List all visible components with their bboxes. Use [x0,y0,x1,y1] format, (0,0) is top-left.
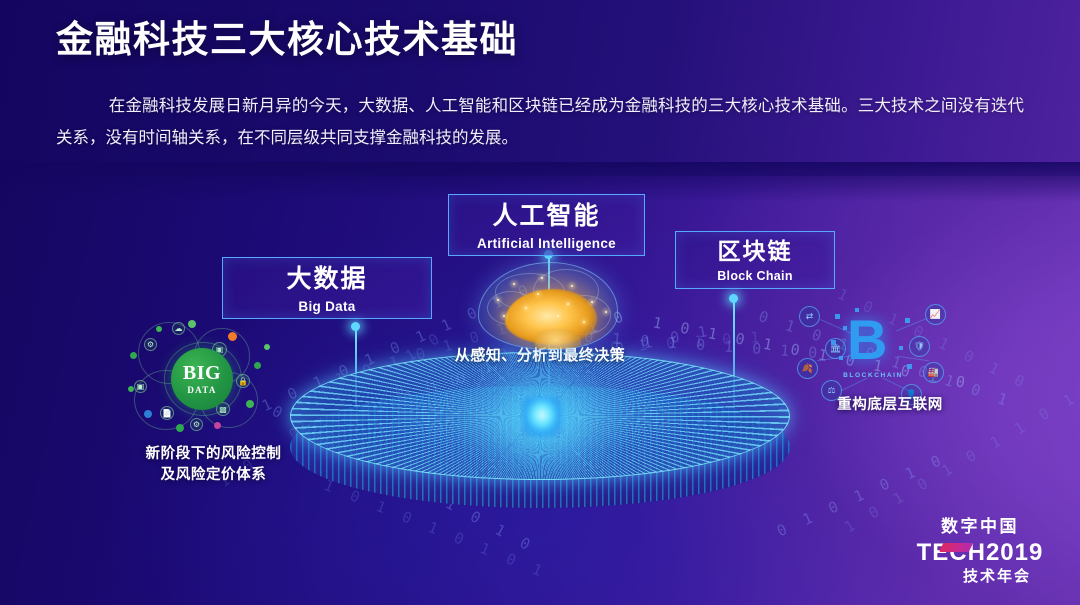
logo-wordmark: TECH2019 [917,539,1044,566]
blockchain-label: BLOCKCHAIN [833,372,913,379]
card-big-data-cn: 大数据 [223,266,431,294]
bc-pixel [831,340,836,345]
card-ai-cn: 人工智能 [449,203,644,231]
bitcoin-b-symbol: B [847,312,899,380]
brain-outer-shell [478,262,618,350]
bc-pixel [899,346,903,350]
slide-canvas: 1 0 1 0 1 0 1 1 0 1 0 0 1 0 1 0 1 0 1 0 … [0,0,1080,605]
brain-spark [513,283,515,285]
bigdata-node [214,422,221,429]
leaf-icon: 🍂 [797,358,818,379]
brain-spark [605,311,607,313]
card-big-data[interactable]: 大数据 Big Data [222,257,432,319]
brain-spark [591,301,593,303]
bc-pixel [835,314,840,319]
caption-big-data: 新阶段下的风险控制 及风险定价体系 [106,444,321,486]
brain-spark [503,315,505,317]
logo-line-3: 技术年会 [939,565,1055,586]
exchange-icon: ⇄ [799,306,820,327]
caption-big-data-line2: 及风险定价体系 [106,465,321,486]
card-blockchain-cn: 区块链 [676,239,834,264]
card-ai-en: Artificial Intelligence [449,236,644,251]
event-logo: 数字中国 TECH2019 技术年会 [905,512,1055,586]
brain-spark [557,315,559,317]
brain-spark [537,293,539,295]
brain-stem [535,329,581,350]
bc-pixel [839,356,843,360]
shield-icon: 🛡 [909,336,930,357]
connector-dot-big-data [351,322,360,331]
bigdata-node [188,320,196,328]
bigdata-node [130,352,137,359]
flask-icon: ⚙ [144,338,157,351]
big-data-icon-cluster: ⚙ ☁ ▣ 🔒 ▩ 📄 ▣ ⚙ BIG DATA [128,318,278,436]
brain-icon [470,252,625,357]
growth-chart-icon: 📈 [925,304,946,325]
document-icon: 📄 [160,406,174,420]
brain-spark [583,321,585,323]
bigdata-node [156,326,162,332]
bigdata-node [228,332,237,341]
big-data-badge-line1: BIG [183,364,221,383]
caption-blockchain-line1: 重构底层互联网 [790,395,990,416]
blockchain-icon-cluster: ⇄ 🏛 🍂 ⚖ 📈 🛡 🏭 👤 B BLOCKCHAIN [795,300,950,405]
bc-connector [897,356,929,361]
card-blockchain-en: Block Chain [676,269,834,283]
cloud-icon: ☁ [172,322,185,335]
card-blockchain[interactable]: 区块链 Block Chain [675,231,835,289]
bigdata-node [176,424,184,432]
central-platform: 从感知、分析到最终决策 [290,352,790,537]
big-data-badge: BIG DATA [171,348,233,410]
caption-big-data-line1: 新阶段下的风险控制 [106,444,321,465]
bc-pixel [907,364,912,369]
brain-spark [571,285,573,287]
card-ai[interactable]: 人工智能 Artificial Intelligence [448,194,645,256]
brain-spark [567,303,569,305]
bigdata-node [144,410,152,418]
page-title: 金融科技三大核心技术基础 [56,18,518,62]
brain-spark [541,277,543,279]
bigdata-node [264,344,270,350]
intro-paragraph: 在金融科技发展日新月异的今天，大数据、人工智能和区块链已经成为金融科技的三大核心… [56,90,1024,154]
logo-line-2: TECH2019 [917,539,1044,567]
platform-core-light [522,397,562,437]
bigdata-node [254,362,261,369]
lock-icon: 🔒 [236,374,250,388]
brain-spark [525,307,527,309]
card-big-data-en: Big Data [223,299,431,314]
bc-connector [896,318,928,332]
logo-line-1: 数字中国 [905,512,1055,537]
logo-slash-accent [938,543,972,552]
brain-spark [497,299,499,301]
factory-icon: 🏭 [923,362,944,383]
caption-blockchain: 重构底层互联网 [790,395,990,416]
bigdata-node [246,400,254,408]
big-data-badge-line2: DATA [187,385,216,395]
connector-dot-blockchain [729,294,738,303]
bc-pixel [905,318,910,323]
gear-icon: ⚙ [190,418,203,431]
image-icon: ▣ [134,380,147,393]
